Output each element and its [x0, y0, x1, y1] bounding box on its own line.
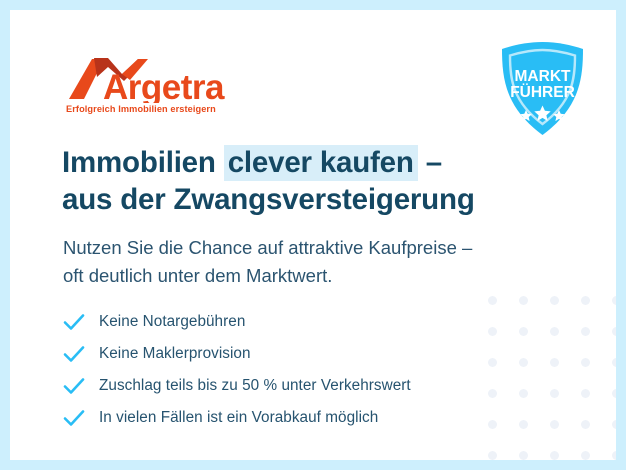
argetra-logo-mark: Argetra [64, 55, 254, 103]
dot [581, 296, 590, 305]
badge-line2-text: FÜHRER [510, 84, 575, 101]
headline-line2: aus der Zwangsversteigerung [62, 183, 475, 216]
dot [550, 296, 559, 305]
svg-text:Argetra: Argetra [103, 68, 225, 103]
check-icon [63, 408, 89, 428]
list-item: Keine Notargebühren [63, 307, 533, 337]
list-item-label: Keine Notargebühren [99, 313, 245, 331]
check-icon [63, 312, 89, 332]
check-icon [63, 376, 89, 396]
dot [581, 420, 590, 429]
dot [550, 327, 559, 336]
dot [581, 389, 590, 398]
subtitle-line1: Nutzen Sie die Chance auf attraktive Kau… [63, 237, 472, 258]
list-item-label: Keine Maklerprovision [99, 345, 251, 363]
argetra-logo[interactable]: Argetra Erfolgreich Immobilien ersteiger… [64, 55, 264, 120]
dot [581, 451, 590, 460]
dot [612, 389, 616, 398]
dot [519, 451, 528, 460]
list-item-label: In vielen Fällen ist ein Vorabkauf mögli… [99, 409, 378, 427]
dot-row [486, 296, 616, 305]
dot [488, 451, 497, 460]
headline-line1-before: Immobilien [62, 146, 224, 179]
list-item-label: Zuschlag teils bis zu 50 % unter Verkehr… [99, 377, 411, 395]
feature-list: Keine Notargebühren Keine Maklerprovisio… [63, 307, 533, 435]
promo-banner: Argetra Erfolgreich Immobilien ersteiger… [0, 0, 626, 470]
badge-line1-text: MARKT [515, 68, 571, 85]
subtitle-line2: oft deutlich unter dem Marktwert. [63, 265, 332, 286]
dot-row [486, 451, 616, 460]
dot [488, 296, 497, 305]
dot [612, 451, 616, 460]
headline-line1-after: – [418, 146, 442, 179]
check-icon [63, 344, 89, 364]
list-item: In vielen Fällen ist ein Vorabkauf mögli… [63, 403, 533, 433]
dot [612, 296, 616, 305]
list-item: Zuschlag teils bis zu 50 % unter Verkehr… [63, 371, 533, 401]
dot [550, 389, 559, 398]
dot [581, 358, 590, 367]
market-leader-badge: MARKT FÜHRER [495, 40, 590, 140]
dot [612, 420, 616, 429]
list-item: Keine Maklerprovision [63, 339, 533, 369]
logo-tagline: Erfolgreich Immobilien ersteigern [66, 104, 216, 114]
dot [581, 327, 590, 336]
banner-canvas: Argetra Erfolgreich Immobilien ersteiger… [10, 10, 616, 460]
subtitle: Nutzen Sie die Chance auf attraktive Kau… [63, 234, 583, 290]
page-title: Immobilien clever kaufen – aus der Zwang… [62, 144, 582, 218]
dot [612, 358, 616, 367]
dot [550, 451, 559, 460]
dot [612, 327, 616, 336]
headline-highlight: clever kaufen [224, 145, 418, 181]
dot [519, 296, 528, 305]
dot [550, 420, 559, 429]
shield-icon: MARKT FÜHRER [495, 40, 590, 140]
dot [550, 358, 559, 367]
